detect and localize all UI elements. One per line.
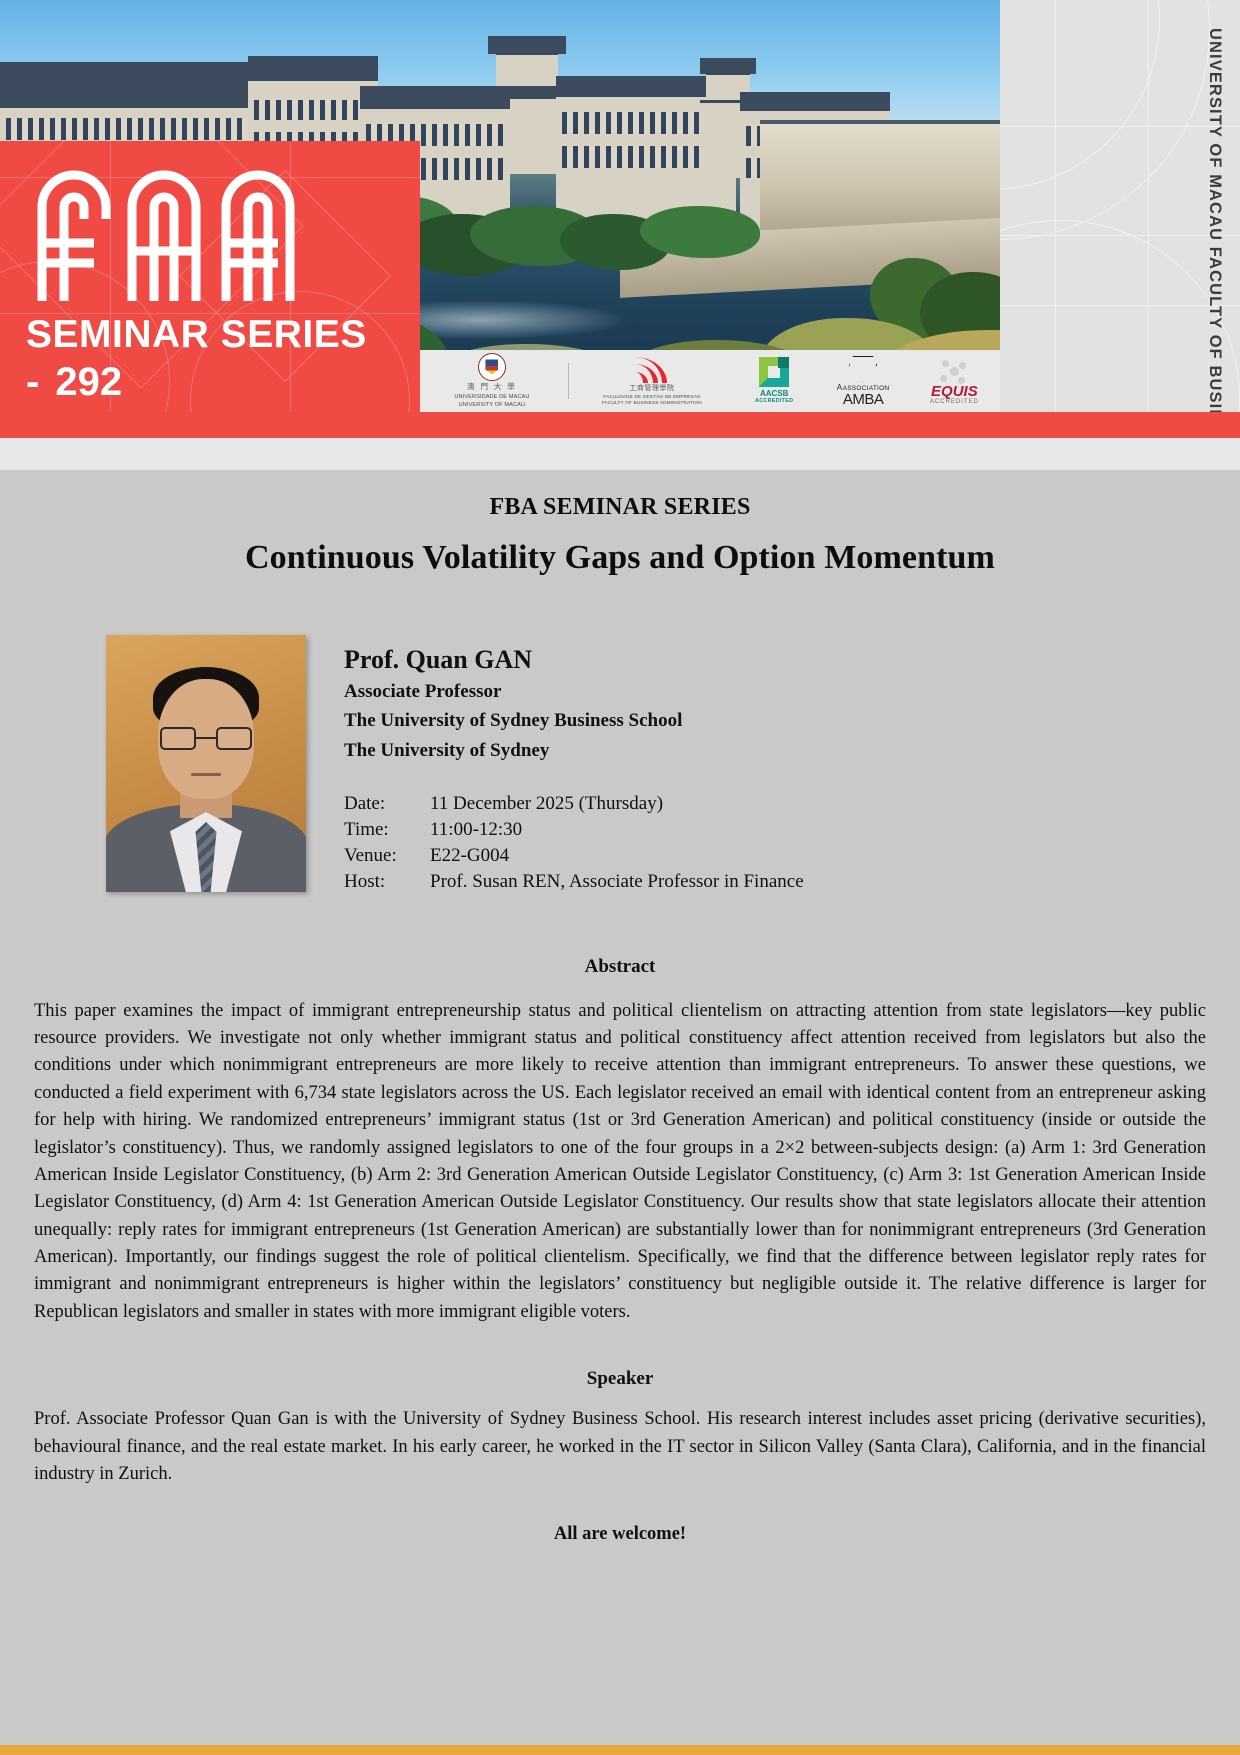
speaker-bio: Prof. Associate Professor Quan Gan is wi… [34, 1406, 1206, 1488]
abstract-text: This paper examines the impact of immigr… [34, 998, 1206, 1327]
seminar-title: Continuous Volatility Gaps and Option Mo… [34, 539, 1206, 577]
equis-caption: ACCREDITED [930, 399, 979, 405]
accred-equis: EQUIS ACCREDITED [909, 350, 1000, 412]
um-chinese-name: 澳 門 大 學 [467, 381, 517, 392]
fba-chinese-name: 工商管理學院 [629, 383, 674, 393]
detail-row-date: Date: 11 December 2025 (Thursday) [344, 791, 804, 817]
red-strip [420, 412, 1240, 438]
speaker-affiliation-2: The University of Sydney [344, 738, 804, 763]
equis-network-icon [940, 358, 968, 384]
venue-label: Venue: [344, 843, 430, 869]
fba-logo-icon [28, 163, 318, 303]
detail-row-time: Time: 11:00-12:30 [344, 817, 804, 843]
time-label: Time: [344, 817, 430, 843]
footer-bar [0, 1745, 1240, 1755]
fba-chinese-logo-icon [635, 355, 669, 383]
poster-body: FBA SEMINAR SERIES Continuous Volatility… [0, 494, 1240, 1545]
event-details: Date: 11 December 2025 (Thursday) Time: … [344, 791, 804, 896]
accreditation-bar: 澳 門 大 學 UNIVERSIDADE DE MACAU UNIVERSITY… [420, 350, 1000, 412]
divider [568, 363, 569, 399]
accred-amba: A ASSOCIATION AMBA [817, 350, 908, 412]
detail-row-venue: Venue: E22-G004 [344, 843, 804, 869]
red-strip-left [0, 412, 420, 438]
amba-label: AMBA [843, 392, 884, 407]
accred-aacsb: AACSB ACCREDITED [731, 350, 818, 412]
faculty-vertical-title: UNIVERSITY OF MACAU FACULTY OF BUSINESS … [1202, 28, 1226, 420]
detail-row-host: Host: Prof. Susan REN, Associate Profess… [344, 869, 804, 895]
speaker-heading: Speaker [34, 1368, 1206, 1390]
seminar-poster: UNIVERSITY OF MACAU FACULTY OF BUSINESS … [0, 0, 1240, 1755]
university-of-macau-seal-icon [478, 353, 506, 381]
speaker-name: Prof. Quan GAN [344, 645, 804, 675]
speaker-title: Associate Professor [344, 679, 804, 704]
amba-a-letter: A [837, 384, 842, 392]
aacsb-caption: ACCREDITED [755, 399, 793, 405]
seminar-series-label: SEMINAR SERIES [26, 313, 367, 357]
speaker-details: Prof. Quan GAN Associate Professor The U… [306, 635, 804, 896]
accred-fba-faculty: 工商管理學院 FACULDADE DE GESTÃO DE EMPRESAS F… [573, 350, 731, 412]
series-number: -292 [26, 360, 122, 405]
host-value: Prof. Susan REN, Associate Professor in … [430, 869, 804, 895]
speaker-affiliation-1: The University of Sydney Business School [344, 708, 804, 733]
poster-header: UNIVERSITY OF MACAU FACULTY OF BUSINESS … [0, 0, 1240, 470]
time-value: 11:00-12:30 [430, 817, 522, 843]
date-label: Date: [344, 791, 430, 817]
welcome-text: All are welcome! [34, 1524, 1206, 1545]
aacsb-logo-icon [759, 357, 789, 387]
accred-university-of-macau: 澳 門 大 學 UNIVERSIDADE DE MACAU UNIVERSITY… [420, 350, 564, 412]
abstract-heading: Abstract [34, 956, 1206, 978]
kicker-label: FBA SEMINAR SERIES [34, 494, 1206, 521]
speaker-portrait [106, 635, 306, 892]
fba-brand-block: SEMINAR SERIES -292 [0, 141, 420, 412]
series-dash: - [26, 360, 39, 405]
date-value: 11 December 2025 (Thursday) [430, 791, 663, 817]
speaker-section: Prof. Quan GAN Associate Professor The U… [34, 635, 1206, 896]
host-label: Host: [344, 869, 430, 895]
equis-label: EQUIS [931, 384, 978, 399]
amba-gem-icon [849, 356, 877, 382]
series-number-value: 292 [55, 360, 122, 404]
venue-value: E22-G004 [430, 843, 509, 869]
header-side-panel: UNIVERSITY OF MACAU FACULTY OF BUSINESS … [1000, 0, 1240, 420]
fba-caption: FACULDADE DE GESTÃO DE EMPRESAS FACULTY … [602, 395, 702, 408]
um-caption: UNIVERSIDADE DE MACAU UNIVERSITY OF MACA… [454, 394, 529, 409]
